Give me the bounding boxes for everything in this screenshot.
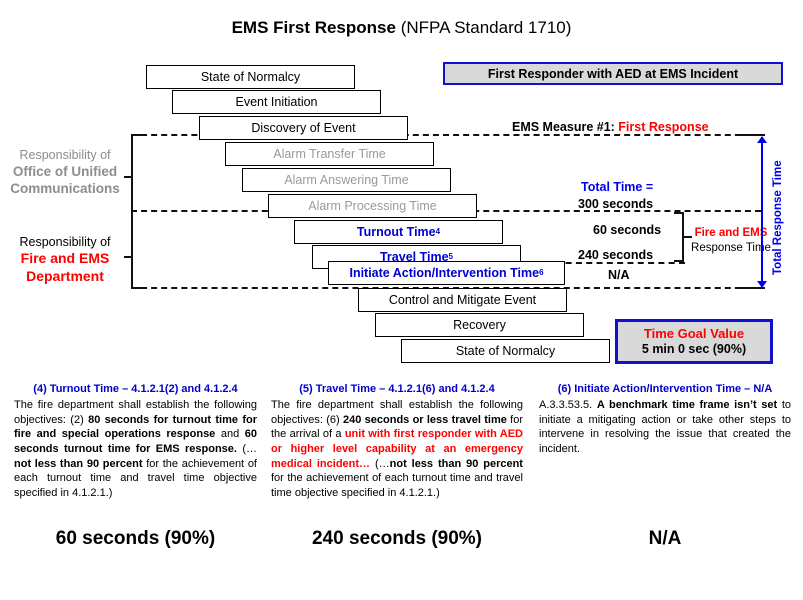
footnote-travel-heading: (5) Travel Time – 4.1.2.1(6) and 4.1.2.4 bbox=[271, 383, 523, 395]
stair-box-alarm-processing-time: Alarm Processing Time bbox=[268, 194, 477, 218]
time-goal-value-box: Time Goal Value 5 min 0 sec (90%) bbox=[615, 319, 773, 364]
stair-box-label: Control and Mitigate Event bbox=[389, 293, 536, 307]
time-goal-title: Time Goal Value bbox=[644, 326, 744, 342]
stair-box-event-initiation: Event Initiation bbox=[172, 90, 381, 114]
stair-box-label: Alarm Answering Time bbox=[284, 173, 408, 187]
footnote-turnout-body: The fire department shall establish the … bbox=[14, 398, 257, 500]
footnote-travel-body: The fire department shall establish the … bbox=[271, 398, 523, 500]
footnote-column-travel: (5) Travel Time – 4.1.2.1(6) and 4.1.2.4… bbox=[271, 383, 523, 500]
fire-ems-response-time-label: Fire and EMS Response Time bbox=[685, 226, 777, 256]
responsibility-fire-line1: Responsibility of bbox=[6, 234, 124, 250]
page-title-bold: EMS First Response bbox=[232, 18, 401, 37]
footnote-run: not less than 90 percent bbox=[390, 458, 523, 470]
summary-initiate: N/A bbox=[539, 528, 791, 550]
travel-time-value: 240 seconds bbox=[578, 248, 653, 262]
responsibility-bracket bbox=[131, 134, 145, 289]
stair-box-label: Initiate Action/Intervention Time bbox=[349, 266, 539, 280]
responsibility-oic-line2: Office of Unified bbox=[6, 163, 124, 180]
page-title: EMS First Response (NFPA Standard 1710) bbox=[0, 18, 803, 38]
footnote-column-initiate: (6) Initiate Action/Intervention Time – … bbox=[539, 383, 791, 457]
page-title-normal: (NFPA Standard 1710) bbox=[401, 18, 572, 37]
ems-measure-highlight: First Response bbox=[618, 120, 708, 134]
responsibility-fire-line2: Fire and EMS bbox=[6, 250, 124, 268]
responsibility-fire-line3: Department bbox=[6, 268, 124, 286]
stair-box-label: State of Normalcy bbox=[456, 344, 555, 358]
fire-ems-label-line2: Response Time bbox=[685, 241, 777, 256]
responsibility-oic-line1: Responsibility of bbox=[6, 147, 124, 163]
diagram-canvas: EMS First Response (NFPA Standard 1710) … bbox=[0, 0, 803, 600]
stair-box-label: Alarm Processing Time bbox=[308, 199, 437, 213]
stair-box-label: Discovery of Event bbox=[251, 121, 355, 135]
stair-box-state-of-normalcy: State of Normalcy bbox=[146, 65, 355, 89]
stair-box-initiate-action-intervention-time: Initiate Action/Intervention Time6 bbox=[328, 261, 565, 285]
responsibility-oic: Responsibility of Office of Unified Comm… bbox=[6, 147, 124, 198]
footnote-run: (… bbox=[370, 458, 390, 470]
turnout-time-value: 60 seconds bbox=[593, 223, 661, 237]
footnote-run: 240 seconds or less travel time bbox=[343, 414, 507, 426]
total-response-arrow-shaft bbox=[761, 142, 763, 283]
initiate-time-value: N/A bbox=[608, 268, 630, 282]
footnote-run: for the achievement of each turnout time… bbox=[271, 472, 523, 499]
stair-box-control-and-mitigate-event: Control and Mitigate Event bbox=[358, 288, 567, 312]
stair-box-label: Alarm Transfer Time bbox=[273, 147, 386, 161]
footnote-run: (… bbox=[237, 443, 257, 455]
summary-turnout: 60 seconds (90%) bbox=[14, 528, 257, 550]
total-time-value: 300 seconds bbox=[578, 197, 653, 211]
divider-first-response-endcap bbox=[735, 134, 765, 136]
responsibility-oic-line3: Communications bbox=[6, 180, 124, 197]
first-responder-banner: First Responder with AED at EMS Incident bbox=[443, 62, 783, 85]
ems-measure-label: EMS Measure #1: First Response bbox=[512, 120, 709, 134]
responsibility-fire: Responsibility of Fire and EMS Departmen… bbox=[6, 234, 124, 286]
stair-box-state-of-normalcy: State of Normalcy bbox=[401, 339, 610, 363]
fire-ems-bracket bbox=[672, 212, 684, 262]
stair-box-label: Event Initiation bbox=[236, 95, 318, 109]
total-response-time-label: Total Response Time bbox=[772, 160, 784, 275]
stair-box-discovery-of-event: Discovery of Event bbox=[199, 116, 408, 140]
footnote-initiate-heading: (6) Initiate Action/Intervention Time – … bbox=[539, 383, 791, 395]
footnote-turnout-heading: (4) Turnout Time – 4.1.2.1(2) and 4.1.2.… bbox=[14, 383, 257, 395]
stair-box-label: State of Normalcy bbox=[201, 70, 300, 84]
ems-measure-prefix: EMS Measure #1: bbox=[512, 120, 618, 134]
stair-box-label: Recovery bbox=[453, 318, 506, 332]
divider-response-end-endcap bbox=[735, 287, 765, 289]
stair-box-alarm-transfer-time: Alarm Transfer Time bbox=[225, 142, 434, 166]
divider-fire-ems-bottom bbox=[545, 262, 685, 264]
footnote-run: A benchmark time frame isn’t set bbox=[597, 399, 777, 411]
stair-box-label: Turnout Time bbox=[357, 225, 436, 239]
footnote-run: not less than 90 percent bbox=[14, 458, 143, 470]
stair-box-turnout-time: Turnout Time4 bbox=[294, 220, 503, 244]
footnote-column-turnout: (4) Turnout Time – 4.1.2.1(2) and 4.1.2.… bbox=[14, 383, 257, 500]
footnote-run: and bbox=[215, 428, 244, 440]
footnote-run: A.3.3.53.5. bbox=[539, 399, 597, 411]
fire-ems-label-line1: Fire and EMS bbox=[685, 226, 777, 241]
first-responder-banner-label: First Responder with AED at EMS Incident bbox=[488, 67, 738, 81]
stair-box-recovery: Recovery bbox=[375, 313, 584, 337]
stair-box-alarm-answering-time: Alarm Answering Time bbox=[242, 168, 451, 192]
total-time-label: Total Time = bbox=[581, 180, 653, 194]
summary-travel: 240 seconds (90%) bbox=[271, 528, 523, 550]
time-goal-value: 5 min 0 sec (90%) bbox=[642, 342, 746, 358]
footnote-initiate-body: A.3.3.53.5. A benchmark time frame isn’t… bbox=[539, 398, 791, 457]
